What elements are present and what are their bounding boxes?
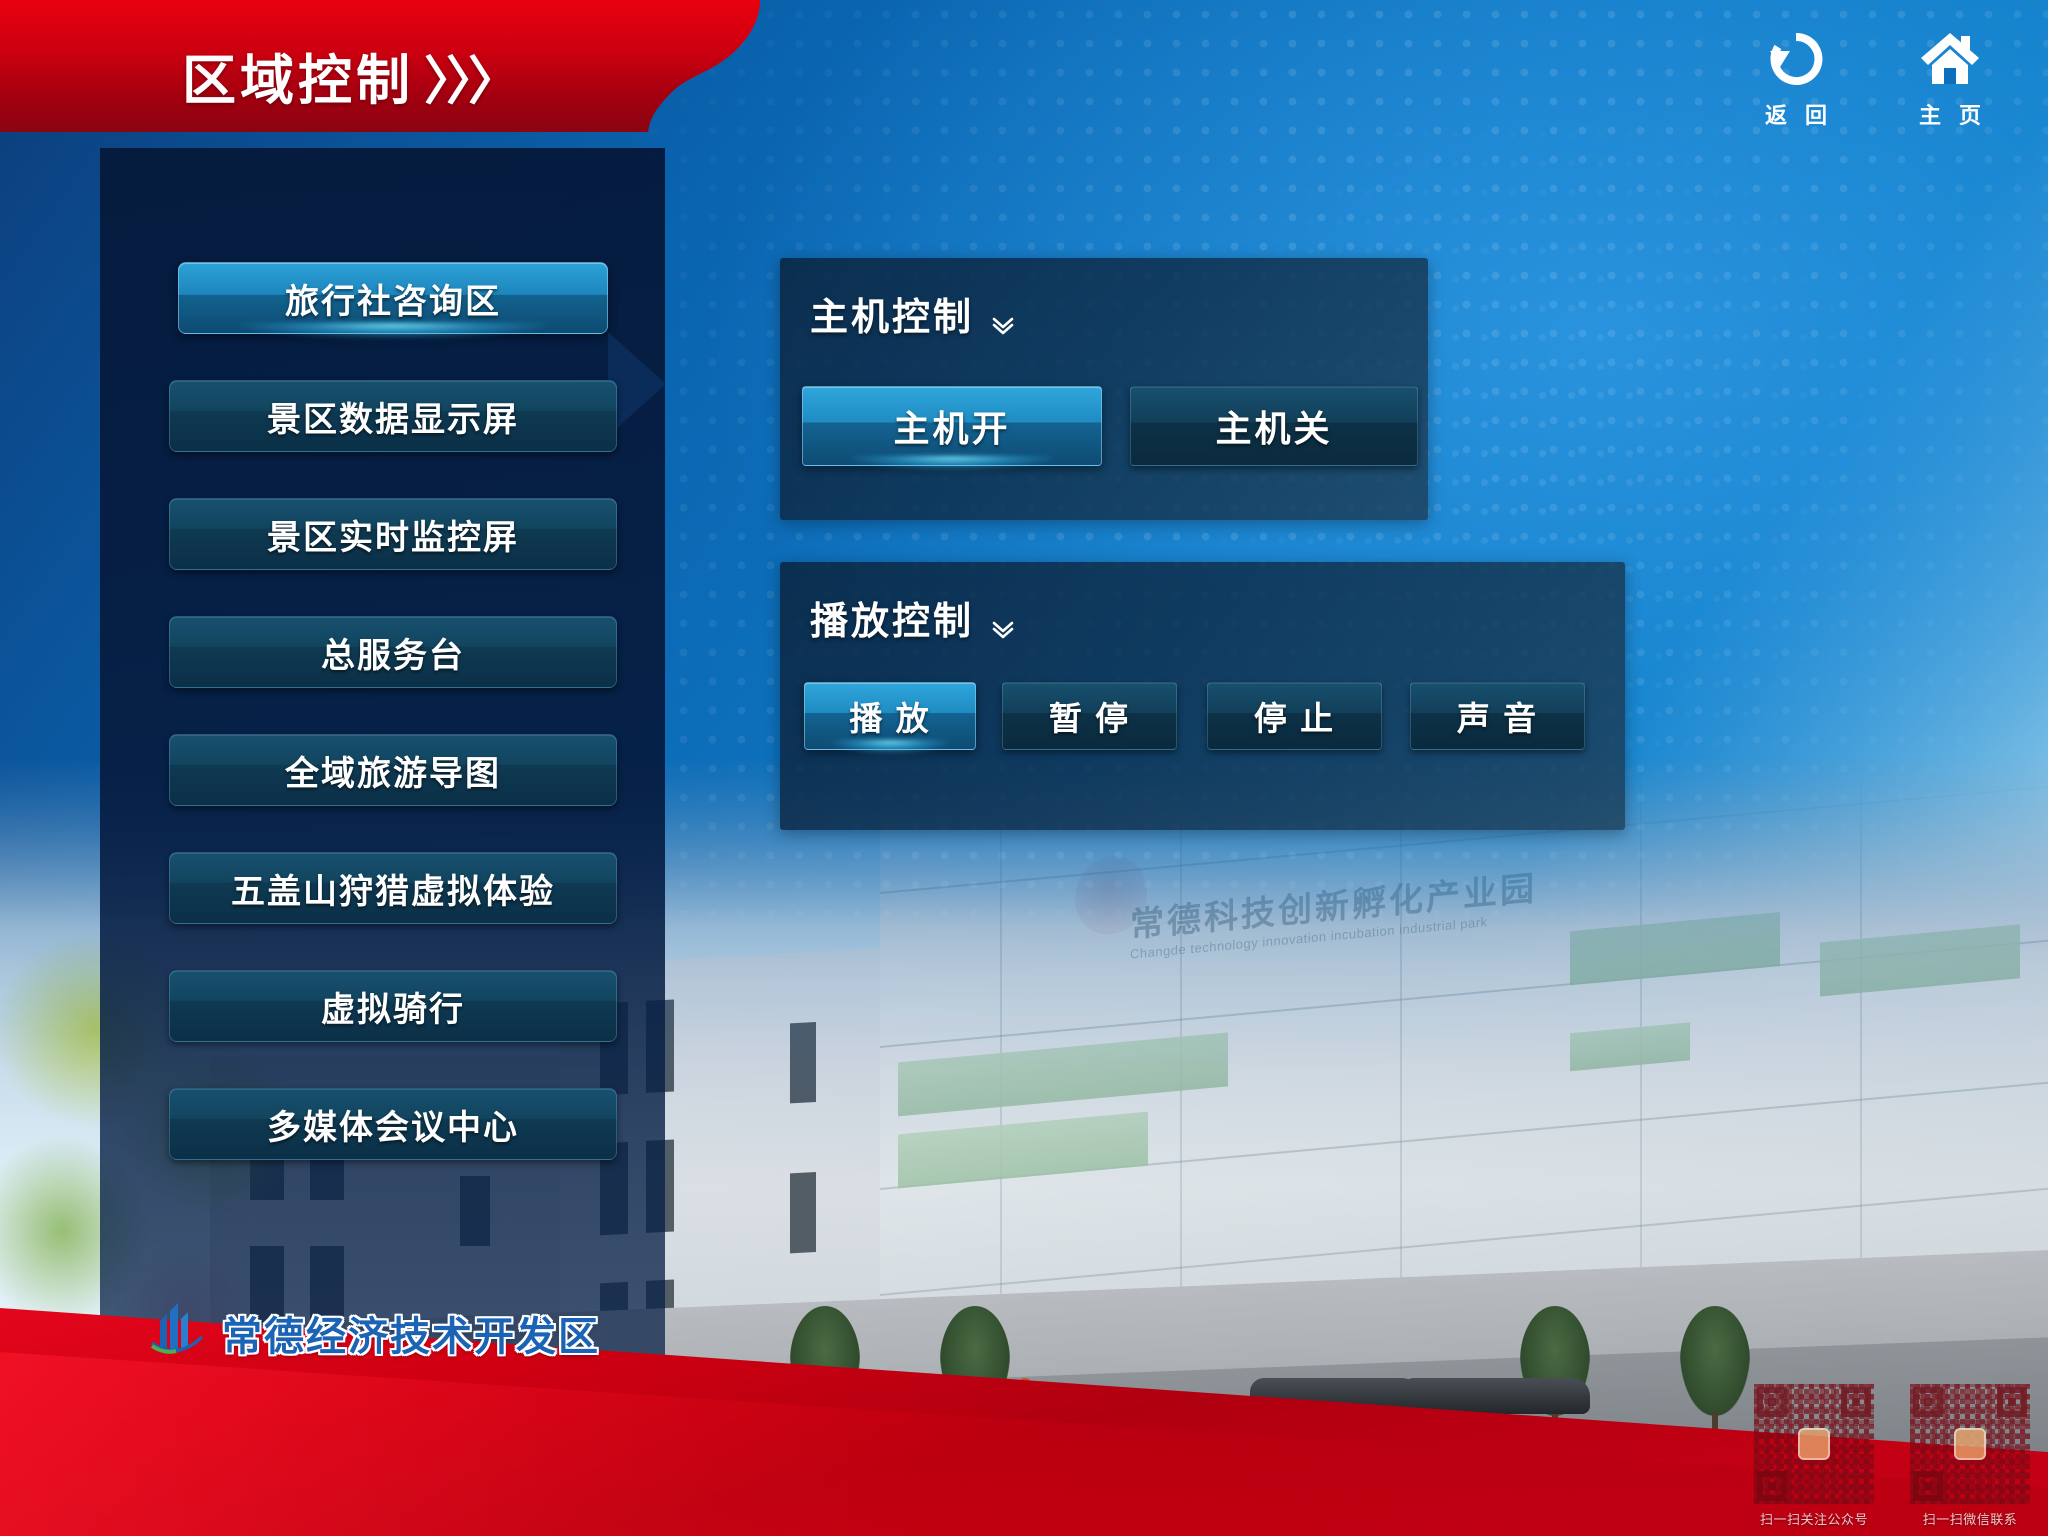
sidebar-item-label: 景区实时监控屏 xyxy=(267,510,519,559)
qr-caption: 扫一扫微信联系 xyxy=(1910,1509,2030,1528)
back-button-label: 返 回 xyxy=(1750,98,1842,130)
page-title-text: 区域控制 xyxy=(182,51,414,111)
qr-center-logo xyxy=(1798,1428,1830,1460)
volume-button[interactable]: 声 音 xyxy=(1410,682,1585,750)
sidebar-item-virtual-cycling[interactable]: 虚拟骑行 xyxy=(169,970,617,1042)
building-swoosh-icon xyxy=(146,1299,208,1366)
host-on-label: 主机开 xyxy=(893,400,1010,452)
home-button-label: 主 页 xyxy=(1904,98,1996,130)
pause-button[interactable]: 暂 停 xyxy=(1002,682,1177,750)
sidebar-item-label: 虚拟骑行 xyxy=(321,982,465,1031)
volume-label: 声 音 xyxy=(1457,692,1538,740)
qr-wechat-contact: 扫一扫微信联系 xyxy=(1910,1384,2030,1528)
qr-official-account: 扫一扫关注公众号 xyxy=(1754,1384,1874,1528)
active-glow xyxy=(851,456,1054,470)
footer-logo-text: 常德经济技术开发区 xyxy=(222,1304,600,1362)
footer-red-band xyxy=(0,1256,2048,1536)
sidebar-item-travel-agency[interactable]: 旅行社咨询区 xyxy=(178,262,608,334)
home-button[interactable]: 主 页 xyxy=(1904,26,1996,130)
playback-control-title: 播放控制 xyxy=(810,590,1016,645)
host-control-panel: 主机控制 主机开 主机关 xyxy=(780,258,1428,520)
sidebar-item-label: 全域旅游导图 xyxy=(285,746,501,795)
active-glow xyxy=(239,323,547,339)
sidebar-item-label: 五盖山狩猎虚拟体验 xyxy=(231,864,555,913)
page-title-chevrons: 〉〉〉 xyxy=(424,53,516,111)
sidebar-item-scenic-monitor-screen[interactable]: 景区实时监控屏 xyxy=(169,498,617,570)
top-nav: 返 回 主 页 xyxy=(1750,26,1996,130)
page-title: 区域控制〉〉〉 xyxy=(182,36,516,115)
playback-control-panel: 播放控制 播 放 暂 停 停 止 声 音 xyxy=(780,562,1625,830)
qr-code-image xyxy=(1754,1384,1874,1504)
host-control-title-text: 主机控制 xyxy=(810,286,974,341)
sidebar-item-hunting-vr[interactable]: 五盖山狩猎虚拟体验 xyxy=(169,852,617,924)
sidebar-item-service-desk[interactable]: 总服务台 xyxy=(169,616,617,688)
sidebar-item-label: 景区数据显示屏 xyxy=(267,392,519,441)
qr-code-image xyxy=(1910,1384,2030,1504)
sidebar-item-tourism-map[interactable]: 全域旅游导图 xyxy=(169,734,617,806)
play-label: 播 放 xyxy=(849,692,930,740)
back-arrow-icon xyxy=(1750,26,1842,92)
back-button[interactable]: 返 回 xyxy=(1750,26,1842,130)
footer-logo: 常德经济技术开发区 xyxy=(146,1299,600,1366)
play-button[interactable]: 播 放 xyxy=(804,682,976,750)
sidebar-item-scenic-data-screen[interactable]: 景区数据显示屏 xyxy=(169,380,617,452)
sidebar-item-conference-center[interactable]: 多媒体会议中心 xyxy=(169,1088,617,1160)
sidebar-item-label: 多媒体会议中心 xyxy=(267,1100,519,1149)
host-off-button[interactable]: 主机关 xyxy=(1130,386,1418,466)
qr-center-logo xyxy=(1954,1428,1986,1460)
chevron-down-icon[interactable] xyxy=(990,609,1016,635)
stop-label: 停 止 xyxy=(1254,692,1335,740)
host-control-title: 主机控制 xyxy=(810,286,1016,341)
home-icon xyxy=(1904,26,1996,92)
sidebar-menu: 旅行社咨询区 景区数据显示屏 景区实时监控屏 总服务台 全域旅游导图 五盖山狩猎… xyxy=(178,262,608,1206)
stop-button[interactable]: 停 止 xyxy=(1207,682,1382,750)
host-on-button[interactable]: 主机开 xyxy=(802,386,1102,466)
active-glow xyxy=(832,740,948,754)
playback-control-title-text: 播放控制 xyxy=(810,590,974,645)
sidebar-item-label: 旅行社咨询区 xyxy=(285,274,501,323)
qr-code-group: 扫一扫关注公众号 扫一扫微信联系 xyxy=(1754,1384,2030,1528)
pause-label: 暂 停 xyxy=(1049,692,1130,740)
chevron-down-icon[interactable] xyxy=(990,305,1016,331)
host-off-label: 主机关 xyxy=(1215,400,1332,452)
sidebar-item-label: 总服务台 xyxy=(321,628,465,677)
app-screen: 常德科技创新孵化产业园 Changde technology innovatio… xyxy=(0,0,2048,1536)
qr-caption: 扫一扫关注公众号 xyxy=(1754,1509,1874,1528)
